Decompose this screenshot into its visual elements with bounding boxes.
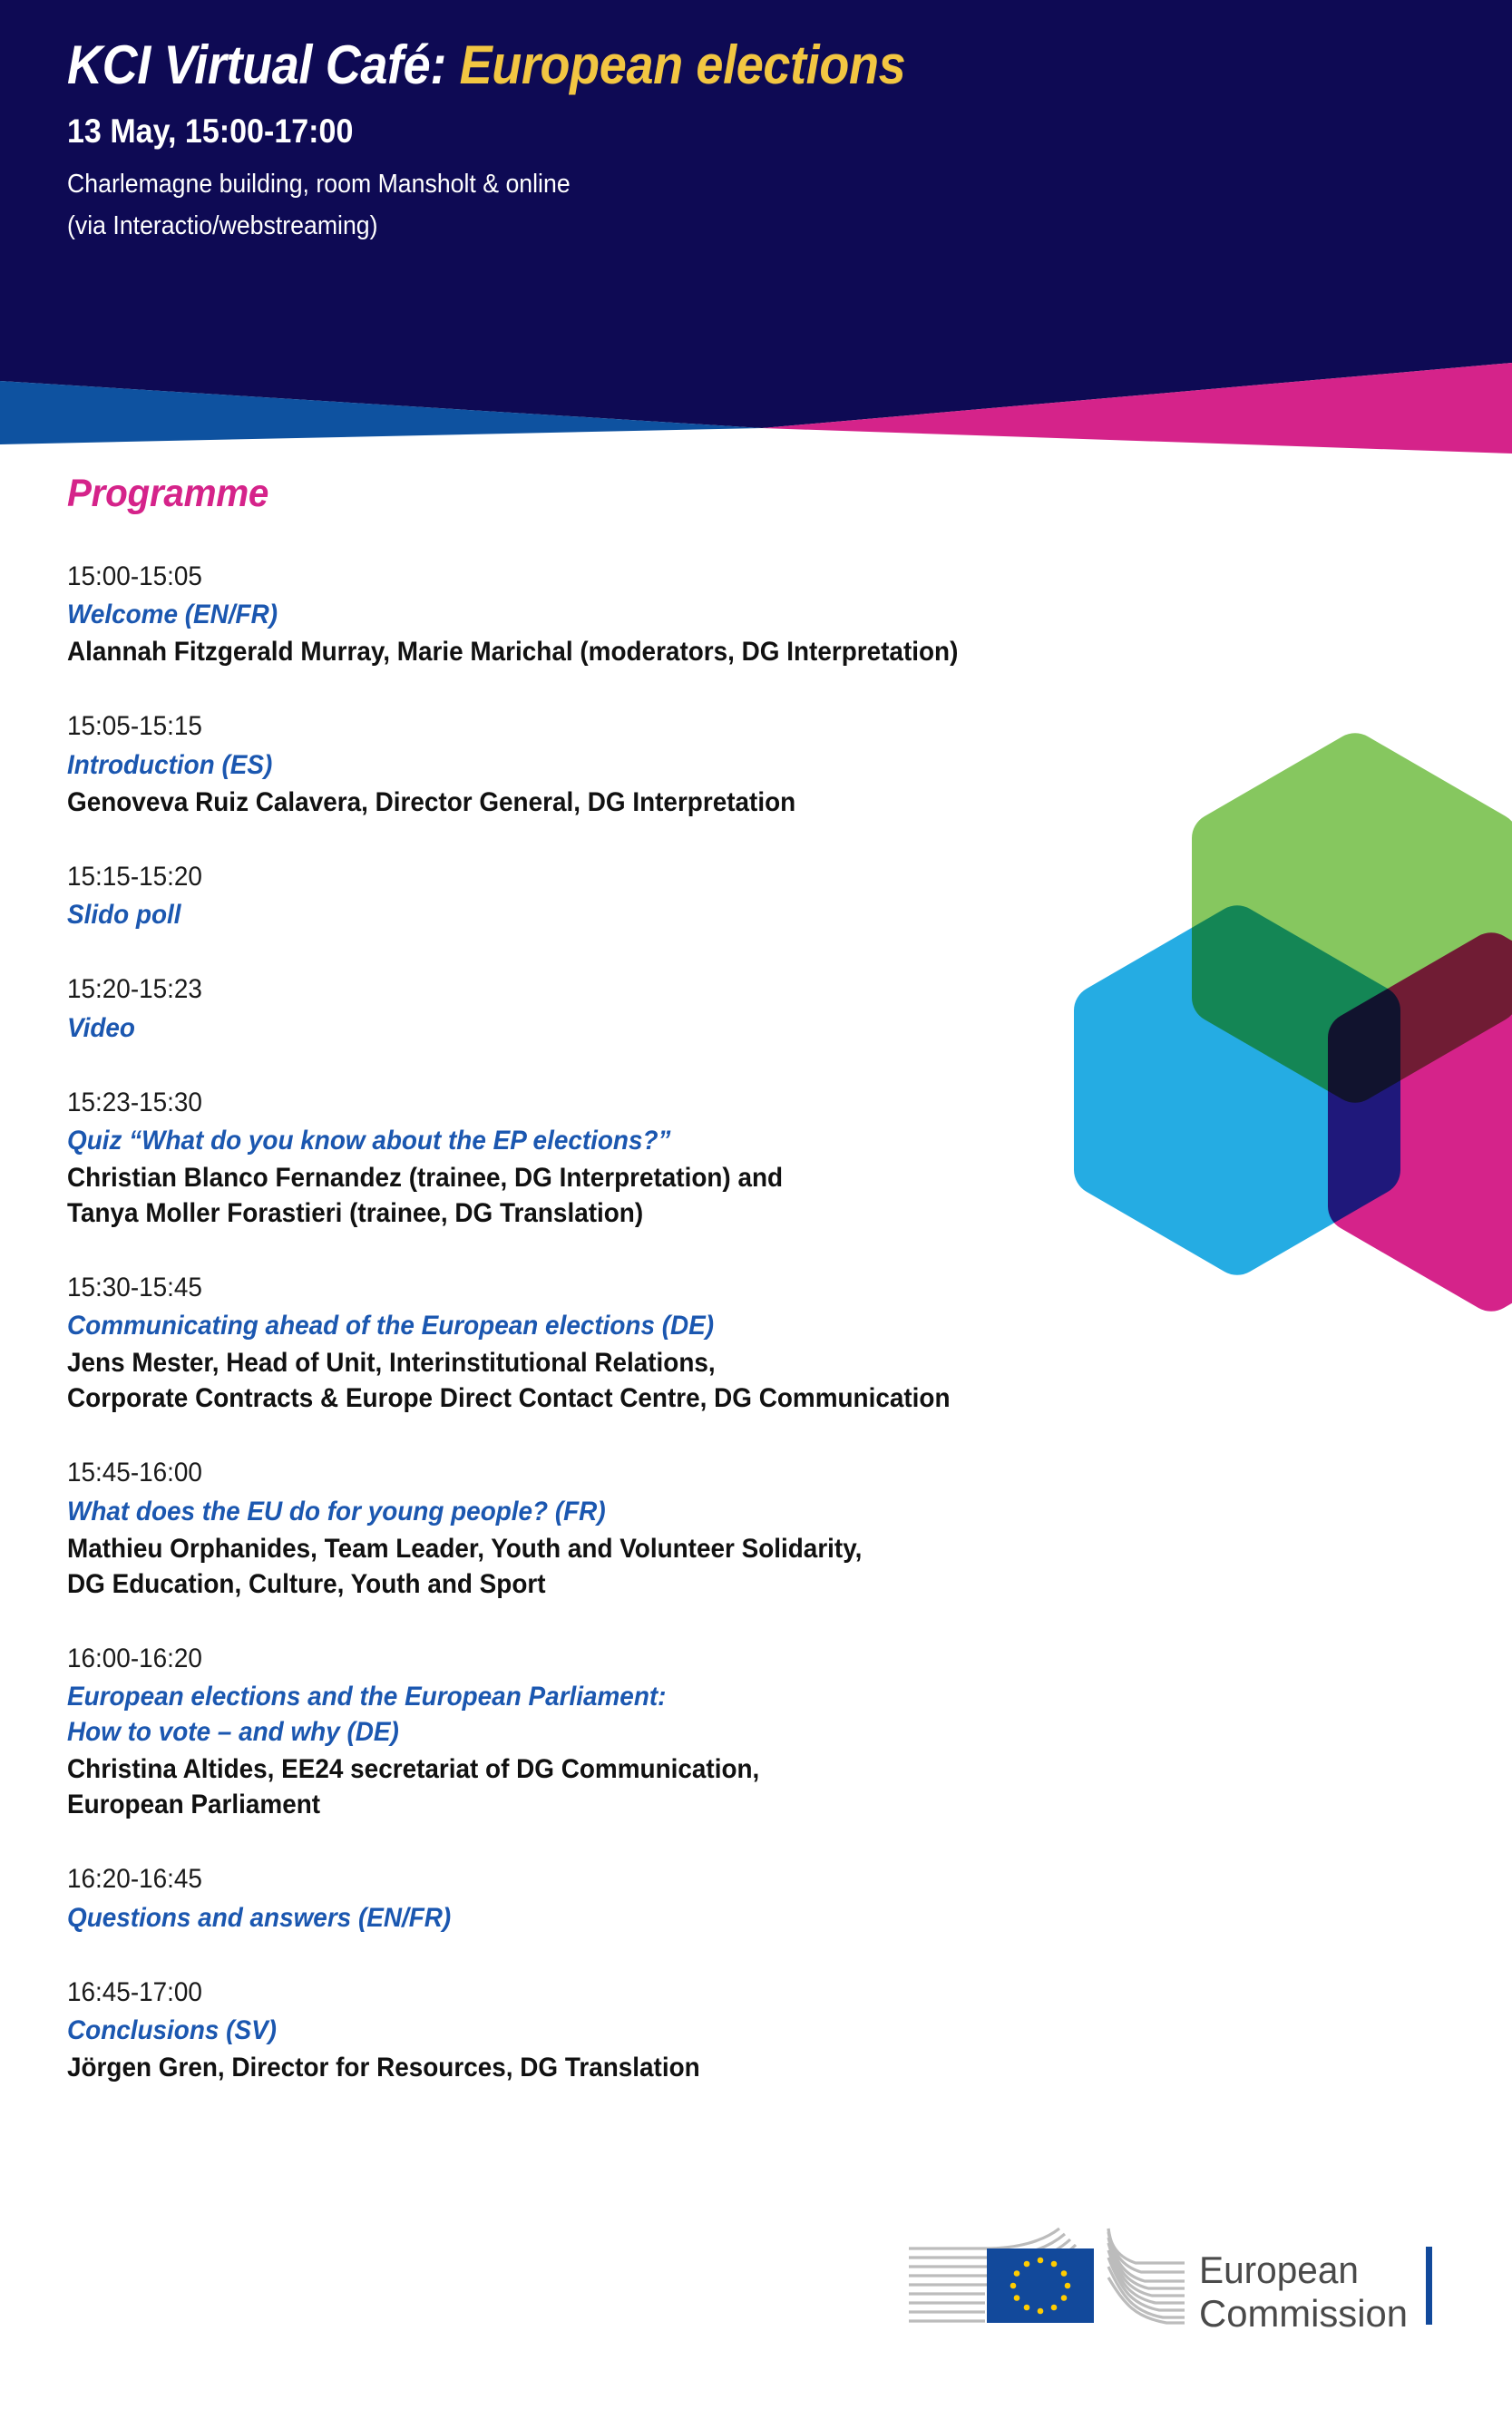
entry-speaker-line: DG Education, Culture, Youth and Sport — [67, 1566, 1189, 1602]
entry-speakers: Christian Blanco Fernandez (trainee, DG … — [67, 1160, 1189, 1231]
venue-line-1: Charlemagne building, room Mansholt & on… — [67, 165, 1277, 203]
programme-entry: 15:45-16:00What does the EU do for young… — [67, 1456, 1273, 1601]
entry-title-line: What does the EU do for young people? (F… — [67, 1494, 1189, 1529]
entry-title: Introduction (ES) — [67, 747, 1189, 783]
european-commission-logo: European Commission — [907, 2227, 1451, 2354]
entry-title: European elections and the European Parl… — [67, 1679, 1189, 1750]
entry-title-line: Conclusions (SV) — [67, 2013, 1189, 2048]
entry-speakers: Mathieu Orphanides, Team Leader, Youth a… — [67, 1531, 1189, 1602]
header-text-block: KCI Virtual Café: European elections 13 … — [67, 36, 1382, 249]
event-venue: Charlemagne building, room Mansholt & on… — [67, 165, 1277, 245]
entry-title-line: Quiz “What do you know about the EP elec… — [67, 1123, 1189, 1158]
entry-speaker-line: European Parliament — [67, 1787, 1189, 1822]
entry-time: 15:20-15:23 — [67, 972, 1189, 1007]
entry-title: Conclusions (SV) — [67, 2013, 1189, 2048]
logo-right-swoosh-icon — [1108, 2229, 1185, 2323]
entry-title: Video — [67, 1010, 1189, 1046]
entry-time: 15:23-15:30 — [67, 1086, 1189, 1120]
entry-title: Quiz “What do you know about the EP elec… — [67, 1123, 1189, 1158]
entry-speaker-line: Jens Mester, Head of Unit, Interinstitut… — [67, 1345, 1189, 1380]
event-datetime: 13 May, 15:00-17:00 — [67, 112, 1277, 151]
programme-entry: 15:00-15:05Welcome (EN/FR)Alannah Fitzge… — [67, 560, 1273, 669]
entry-title-line: Communicating ahead of the European elec… — [67, 1308, 1189, 1343]
entry-title-line: Video — [67, 1010, 1189, 1046]
entry-speaker-line: Alannah Fitzgerald Murray, Marie Maricha… — [67, 634, 1189, 669]
entry-time: 16:00-16:20 — [67, 1642, 1189, 1676]
entry-time: 15:45-16:00 — [67, 1456, 1189, 1490]
entry-time: 16:45-17:00 — [67, 1975, 1189, 2010]
programme-entry: 16:20-16:45Questions and answers (EN/FR) — [67, 1862, 1273, 1935]
entry-title: Welcome (EN/FR) — [67, 597, 1189, 632]
entry-title: What does the EU do for young people? (F… — [67, 1494, 1189, 1529]
entry-title: Slido poll — [67, 897, 1189, 932]
programme-section: Programme 15:00-15:05Welcome (EN/FR)Alan… — [67, 472, 1273, 2085]
entry-speaker-line: Genoveva Ruiz Calavera, Director General… — [67, 785, 1189, 820]
entry-speaker-line: Christian Blanco Fernandez (trainee, DG … — [67, 1160, 1189, 1195]
programme-entry: 15:05-15:15Introduction (ES)Genoveva Rui… — [67, 709, 1273, 819]
entry-speaker-line: Corporate Contracts & Europe Direct Cont… — [67, 1380, 1189, 1416]
entry-speaker-line: Christina Altides, EE24 secretariat of D… — [67, 1751, 1189, 1787]
entry-speakers: Christina Altides, EE24 secretariat of D… — [67, 1751, 1189, 1822]
logo-text-line-2: Commission — [1199, 2292, 1408, 2335]
page-title-accent: European elections — [460, 34, 906, 95]
entry-title: Communicating ahead of the European elec… — [67, 1308, 1189, 1343]
hexagon-magenta — [1328, 932, 1512, 1312]
page-title-main: KCI Virtual Café: — [67, 34, 460, 95]
entry-title-line: Introduction (ES) — [67, 747, 1189, 783]
entry-speakers: Genoveva Ruiz Calavera, Director General… — [67, 785, 1189, 820]
programme-entry: 16:00-16:20European elections and the Eu… — [67, 1642, 1273, 1822]
programme-entry: 15:23-15:30Quiz “What do you know about … — [67, 1086, 1273, 1231]
entry-time: 15:30-15:45 — [67, 1271, 1189, 1305]
entry-time: 15:00-15:05 — [67, 560, 1189, 594]
entry-speaker-line: Mathieu Orphanides, Team Leader, Youth a… — [67, 1531, 1189, 1566]
header-banner: KCI Virtual Café: European elections 13 … — [0, 0, 1512, 454]
programme-entry: 15:15-15:20Slido poll — [67, 860, 1273, 932]
programme-entry: 16:45-17:00Conclusions (SV)Jörgen Gren, … — [67, 1975, 1273, 2085]
entry-speakers: Alannah Fitzgerald Murray, Marie Maricha… — [67, 634, 1189, 669]
entry-time: 15:15-15:20 — [67, 860, 1189, 894]
programme-entry: 15:30-15:45Communicating ahead of the Eu… — [67, 1271, 1273, 1416]
ec-logo-svg: European Commission — [907, 2227, 1451, 2354]
entry-title-line: How to vote – and why (DE) — [67, 1714, 1189, 1750]
programme-entry: 15:20-15:23Video — [67, 972, 1273, 1045]
logo-text-line-1: European — [1199, 2248, 1359, 2291]
entry-title-line: Questions and answers (EN/FR) — [67, 1900, 1189, 1936]
entry-title-line: Welcome (EN/FR) — [67, 597, 1189, 632]
entry-speaker-line: Tanya Moller Forastieri (trainee, DG Tra… — [67, 1195, 1189, 1231]
page-title: KCI Virtual Café: European elections — [67, 36, 1251, 94]
logo-blue-bar — [1426, 2247, 1432, 2325]
entry-speaker-line: Jörgen Gren, Director for Resources, DG … — [67, 2050, 1189, 2085]
programme-heading: Programme — [67, 472, 1201, 516]
programme-entry-list: 15:00-15:05Welcome (EN/FR)Alannah Fitzge… — [67, 560, 1273, 2085]
entry-title: Questions and answers (EN/FR) — [67, 1900, 1189, 1936]
entry-speakers: Jörgen Gren, Director for Resources, DG … — [67, 2050, 1189, 2085]
venue-line-2: (via Interactio/webstreaming) — [67, 207, 1277, 245]
entry-speakers: Jens Mester, Head of Unit, Interinstitut… — [67, 1345, 1189, 1416]
poster-page: KCI Virtual Café: European elections 13 … — [0, 0, 1512, 2419]
entry-time: 15:05-15:15 — [67, 709, 1189, 744]
entry-title-line: European elections and the European Parl… — [67, 1679, 1189, 1714]
entry-title-line: Slido poll — [67, 897, 1189, 932]
entry-time: 16:20-16:45 — [67, 1862, 1189, 1897]
